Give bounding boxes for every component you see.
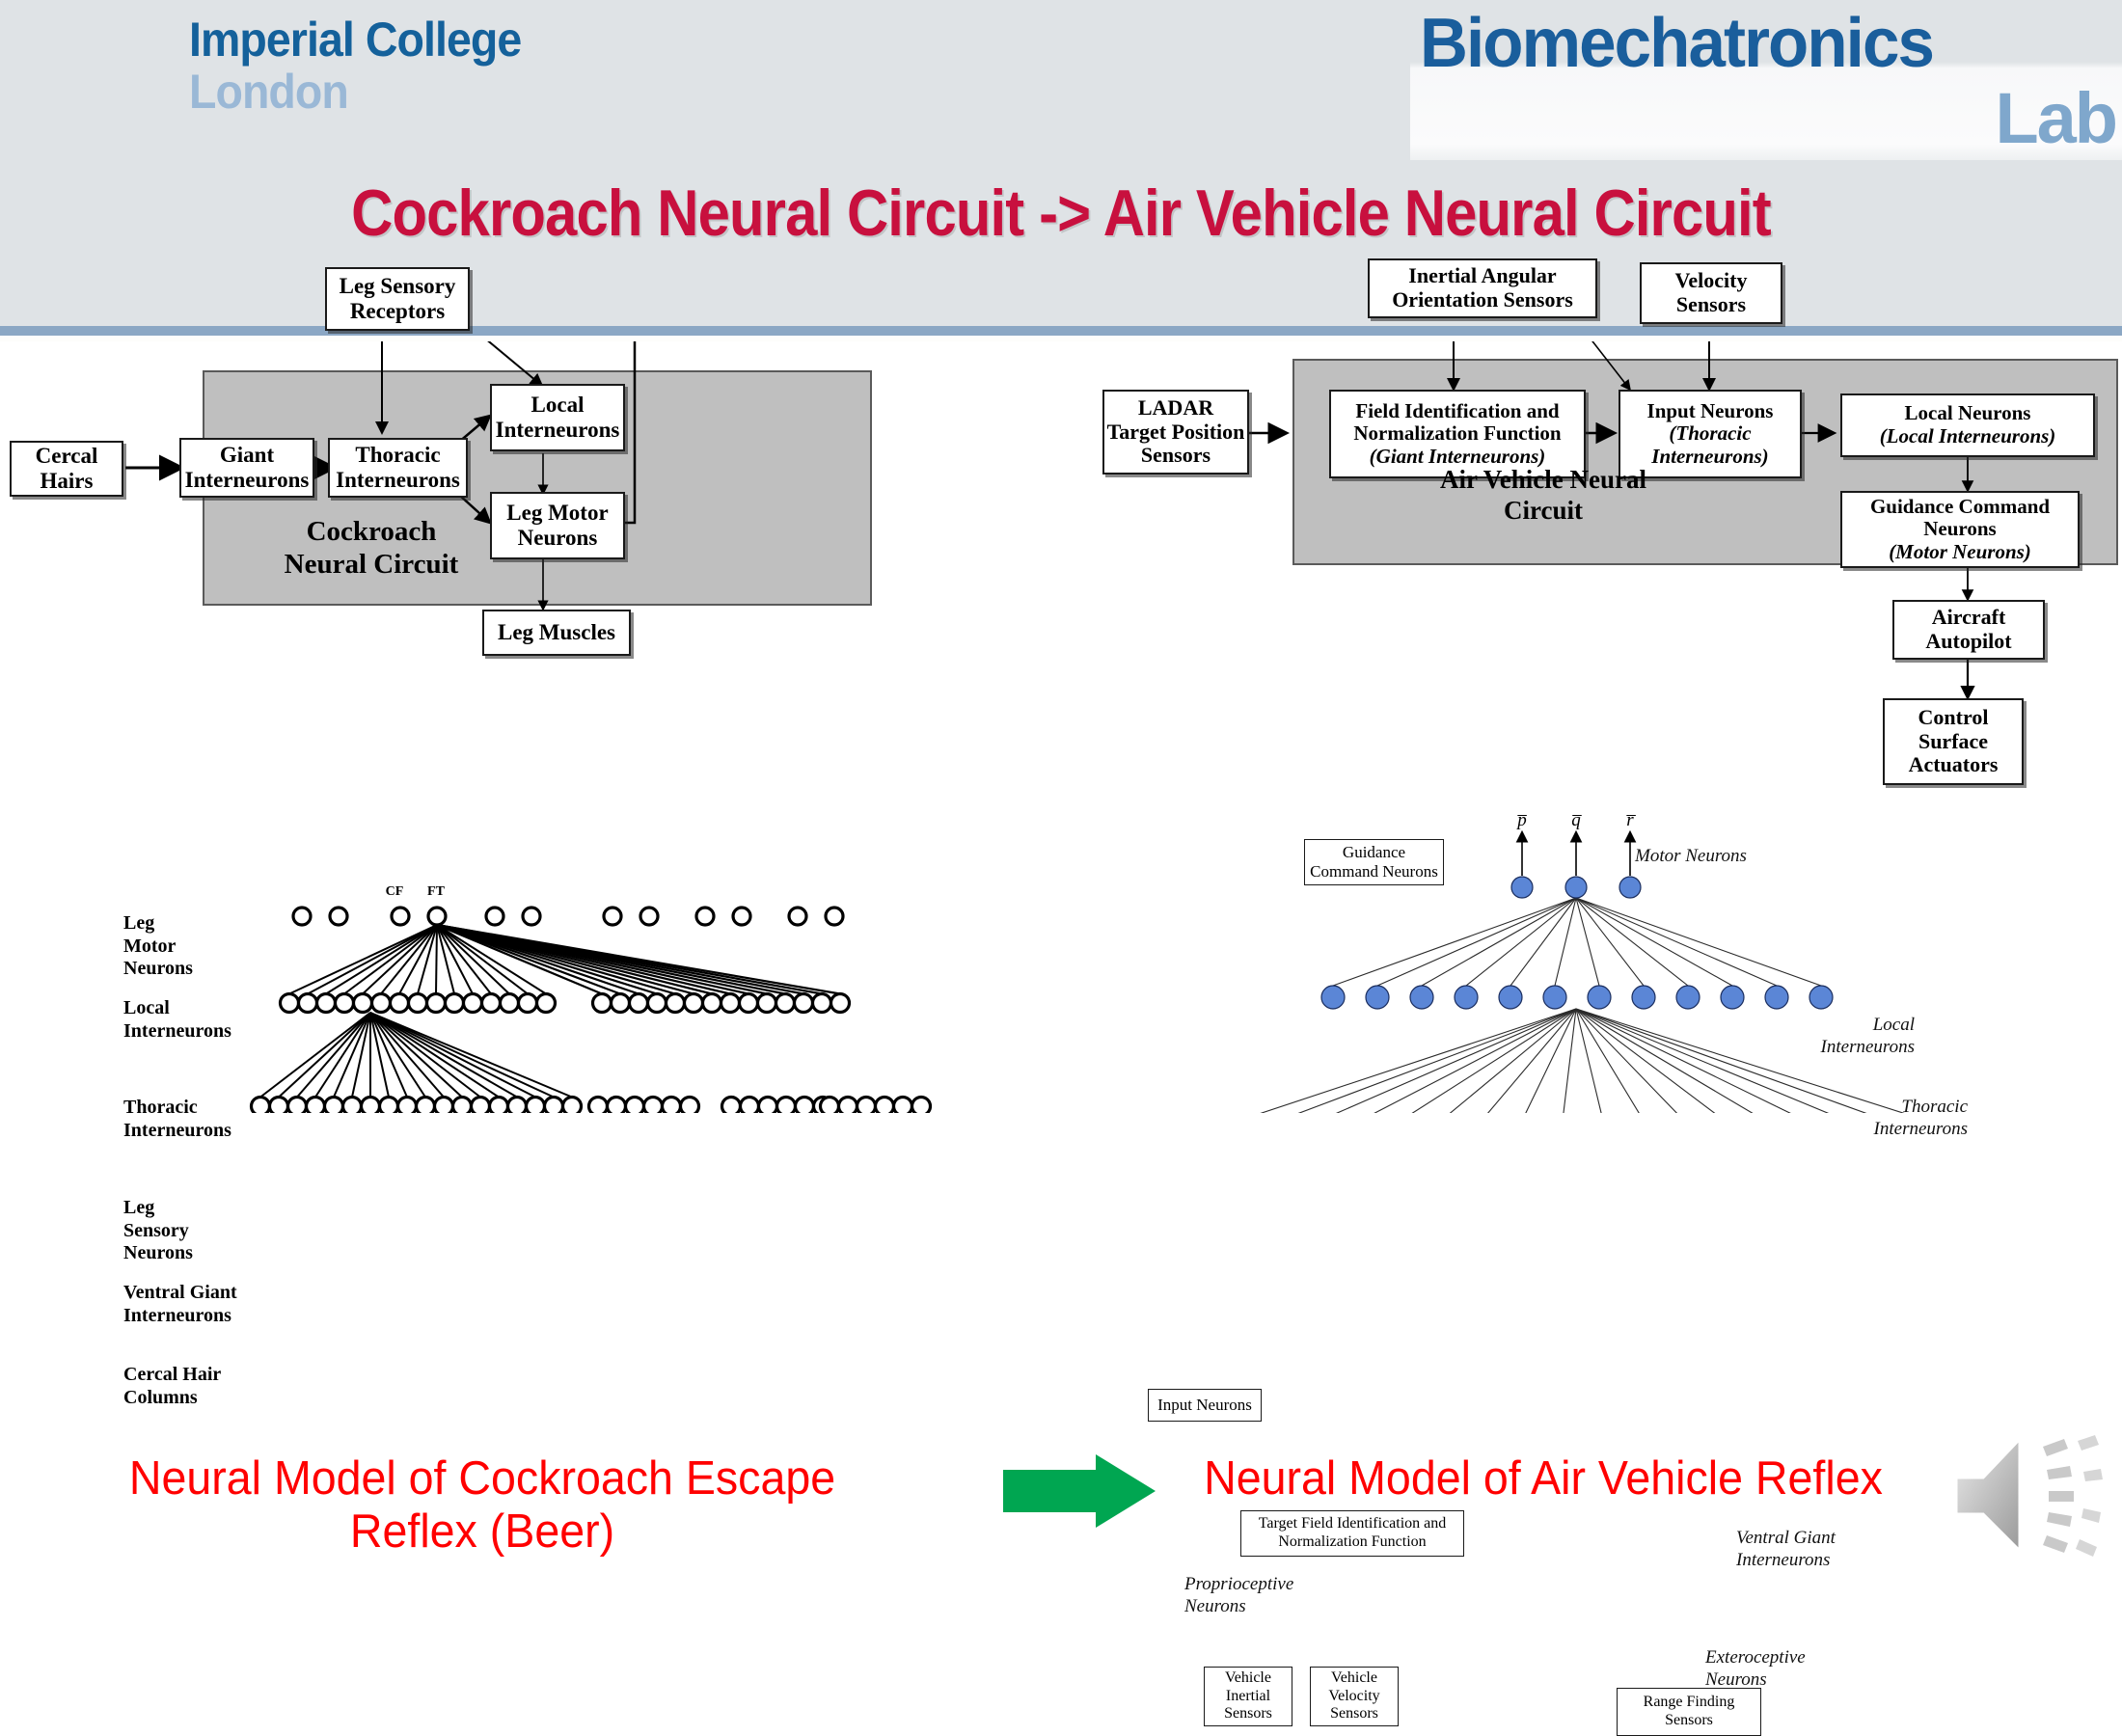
box-leg-sensory-receptors-label: Leg SensoryReceptors — [340, 274, 456, 324]
header-divider-rule — [0, 326, 2122, 336]
box-velocity-sensors-label: VelocitySensors — [1675, 269, 1748, 316]
rnn-box-vehicle-velocity-sensors: VehicleVelocitySensors — [1310, 1667, 1399, 1726]
rnn-label-motor-neurons: Motor Neurons — [1635, 846, 1747, 868]
rnn-box-target-field-identification: Target Field Identification andNormaliza… — [1240, 1510, 1464, 1557]
rnn-label-ventral-giant-interneurons: Ventral GiantInterneurons — [1736, 1528, 1836, 1572]
rnn-box-target-field-label: Target Field Identification andNormaliza… — [1259, 1515, 1447, 1552]
svg-text:p̅: p̅ — [1515, 810, 1527, 830]
rnn-label-thoracic-interneurons: ThoracicInterneurons — [1862, 1097, 1968, 1141]
rnn-box-guidance-command-neurons: GuidanceCommand Neurons — [1304, 839, 1444, 885]
imperial-college-logo: Imperial College London — [189, 15, 546, 116]
biomechatronics-lab-logo: Biomechatronics Lab — [1410, 2, 2122, 160]
caption-right: Neural Model of Air Vehicle Reflex — [1140, 1452, 1946, 1505]
caption-left-l2: Reflex (Beer) — [350, 1505, 614, 1558]
caption-left: Neural Model of Cockroach Escape Reflex … — [61, 1452, 904, 1559]
rnn-box-vehicle-velocity-label: VehicleVelocitySensors — [1328, 1669, 1379, 1724]
rnn-label-local-interneurons: LocalInterneurons — [1809, 1015, 1915, 1059]
lab-logo-line2: Lab — [1995, 77, 2116, 159]
rnn-box-vehicle-inertial-sensors: VehicleInertialSensors — [1204, 1667, 1292, 1726]
page-title: Cockroach Neural Circuit -> Air Vehicle … — [127, 176, 1995, 251]
svg-text:q̅: q̅ — [1571, 810, 1582, 830]
rnn-box-input-neurons-label: Input Neurons — [1157, 1396, 1252, 1415]
box-velocity-sensors: VelocitySensors — [1640, 262, 1782, 324]
box-inertial-angular-orientation-sensors: Inertial AngularOrientation Sensors — [1368, 258, 1597, 318]
lab-logo-line1: Biomechatronics — [1420, 4, 1933, 83]
rnn-box-range-finding-sensors: Range FindingSensors — [1617, 1688, 1761, 1736]
rnn-box-vehicle-inertial-label: VehicleInertialSensors — [1224, 1669, 1272, 1724]
left-nn-row-label-leg-sensory-neurons: LegSensoryNeurons — [123, 1197, 193, 1265]
left-nn-row-label-ventral-giant-interneurons: Ventral GiantInterneurons — [123, 1282, 237, 1327]
caption-left-l1: Neural Model of Cockroach Escape — [129, 1452, 835, 1505]
box-leg-sensory-receptors: Leg SensoryReceptors — [325, 267, 470, 331]
speaker-icon — [1950, 1433, 2105, 1559]
logo-line-institution: Imperial College — [189, 15, 521, 64]
logo-line-city: London — [189, 68, 521, 116]
rnn-box-range-finding-label: Range FindingSensors — [1644, 1694, 1735, 1730]
box-inertial-sensors-label: Inertial AngularOrientation Sensors — [1392, 264, 1573, 312]
air-vehicle-neural-network-figure: p̅q̅r̅x̄tarȳtar‖x̄tar − ȳtar‖φθψVx̄tȳ… — [0, 341, 2122, 1113]
left-nn-row-label-cercal-hair-columns: Cercal HairColumns — [123, 1364, 221, 1409]
rnn-box-input-neurons: Input Neurons — [1148, 1389, 1262, 1422]
svg-text:r̅: r̅ — [1626, 810, 1636, 830]
green-arrow-icon — [1003, 1452, 1157, 1530]
rnn-label-exteroceptive-neurons: ExteroceptiveNeurons — [1705, 1647, 1806, 1692]
rnn-box-guidance-label: GuidanceCommand Neurons — [1310, 843, 1438, 882]
rnn-label-proprioceptive-neurons: ProprioceptiveNeurons — [1184, 1574, 1293, 1618]
caption-right-l1: Neural Model of Air Vehicle Reflex — [1204, 1452, 1883, 1505]
slide-content-area: CercalHairs Leg SensoryReceptors GiantIn… — [0, 341, 2122, 1585]
